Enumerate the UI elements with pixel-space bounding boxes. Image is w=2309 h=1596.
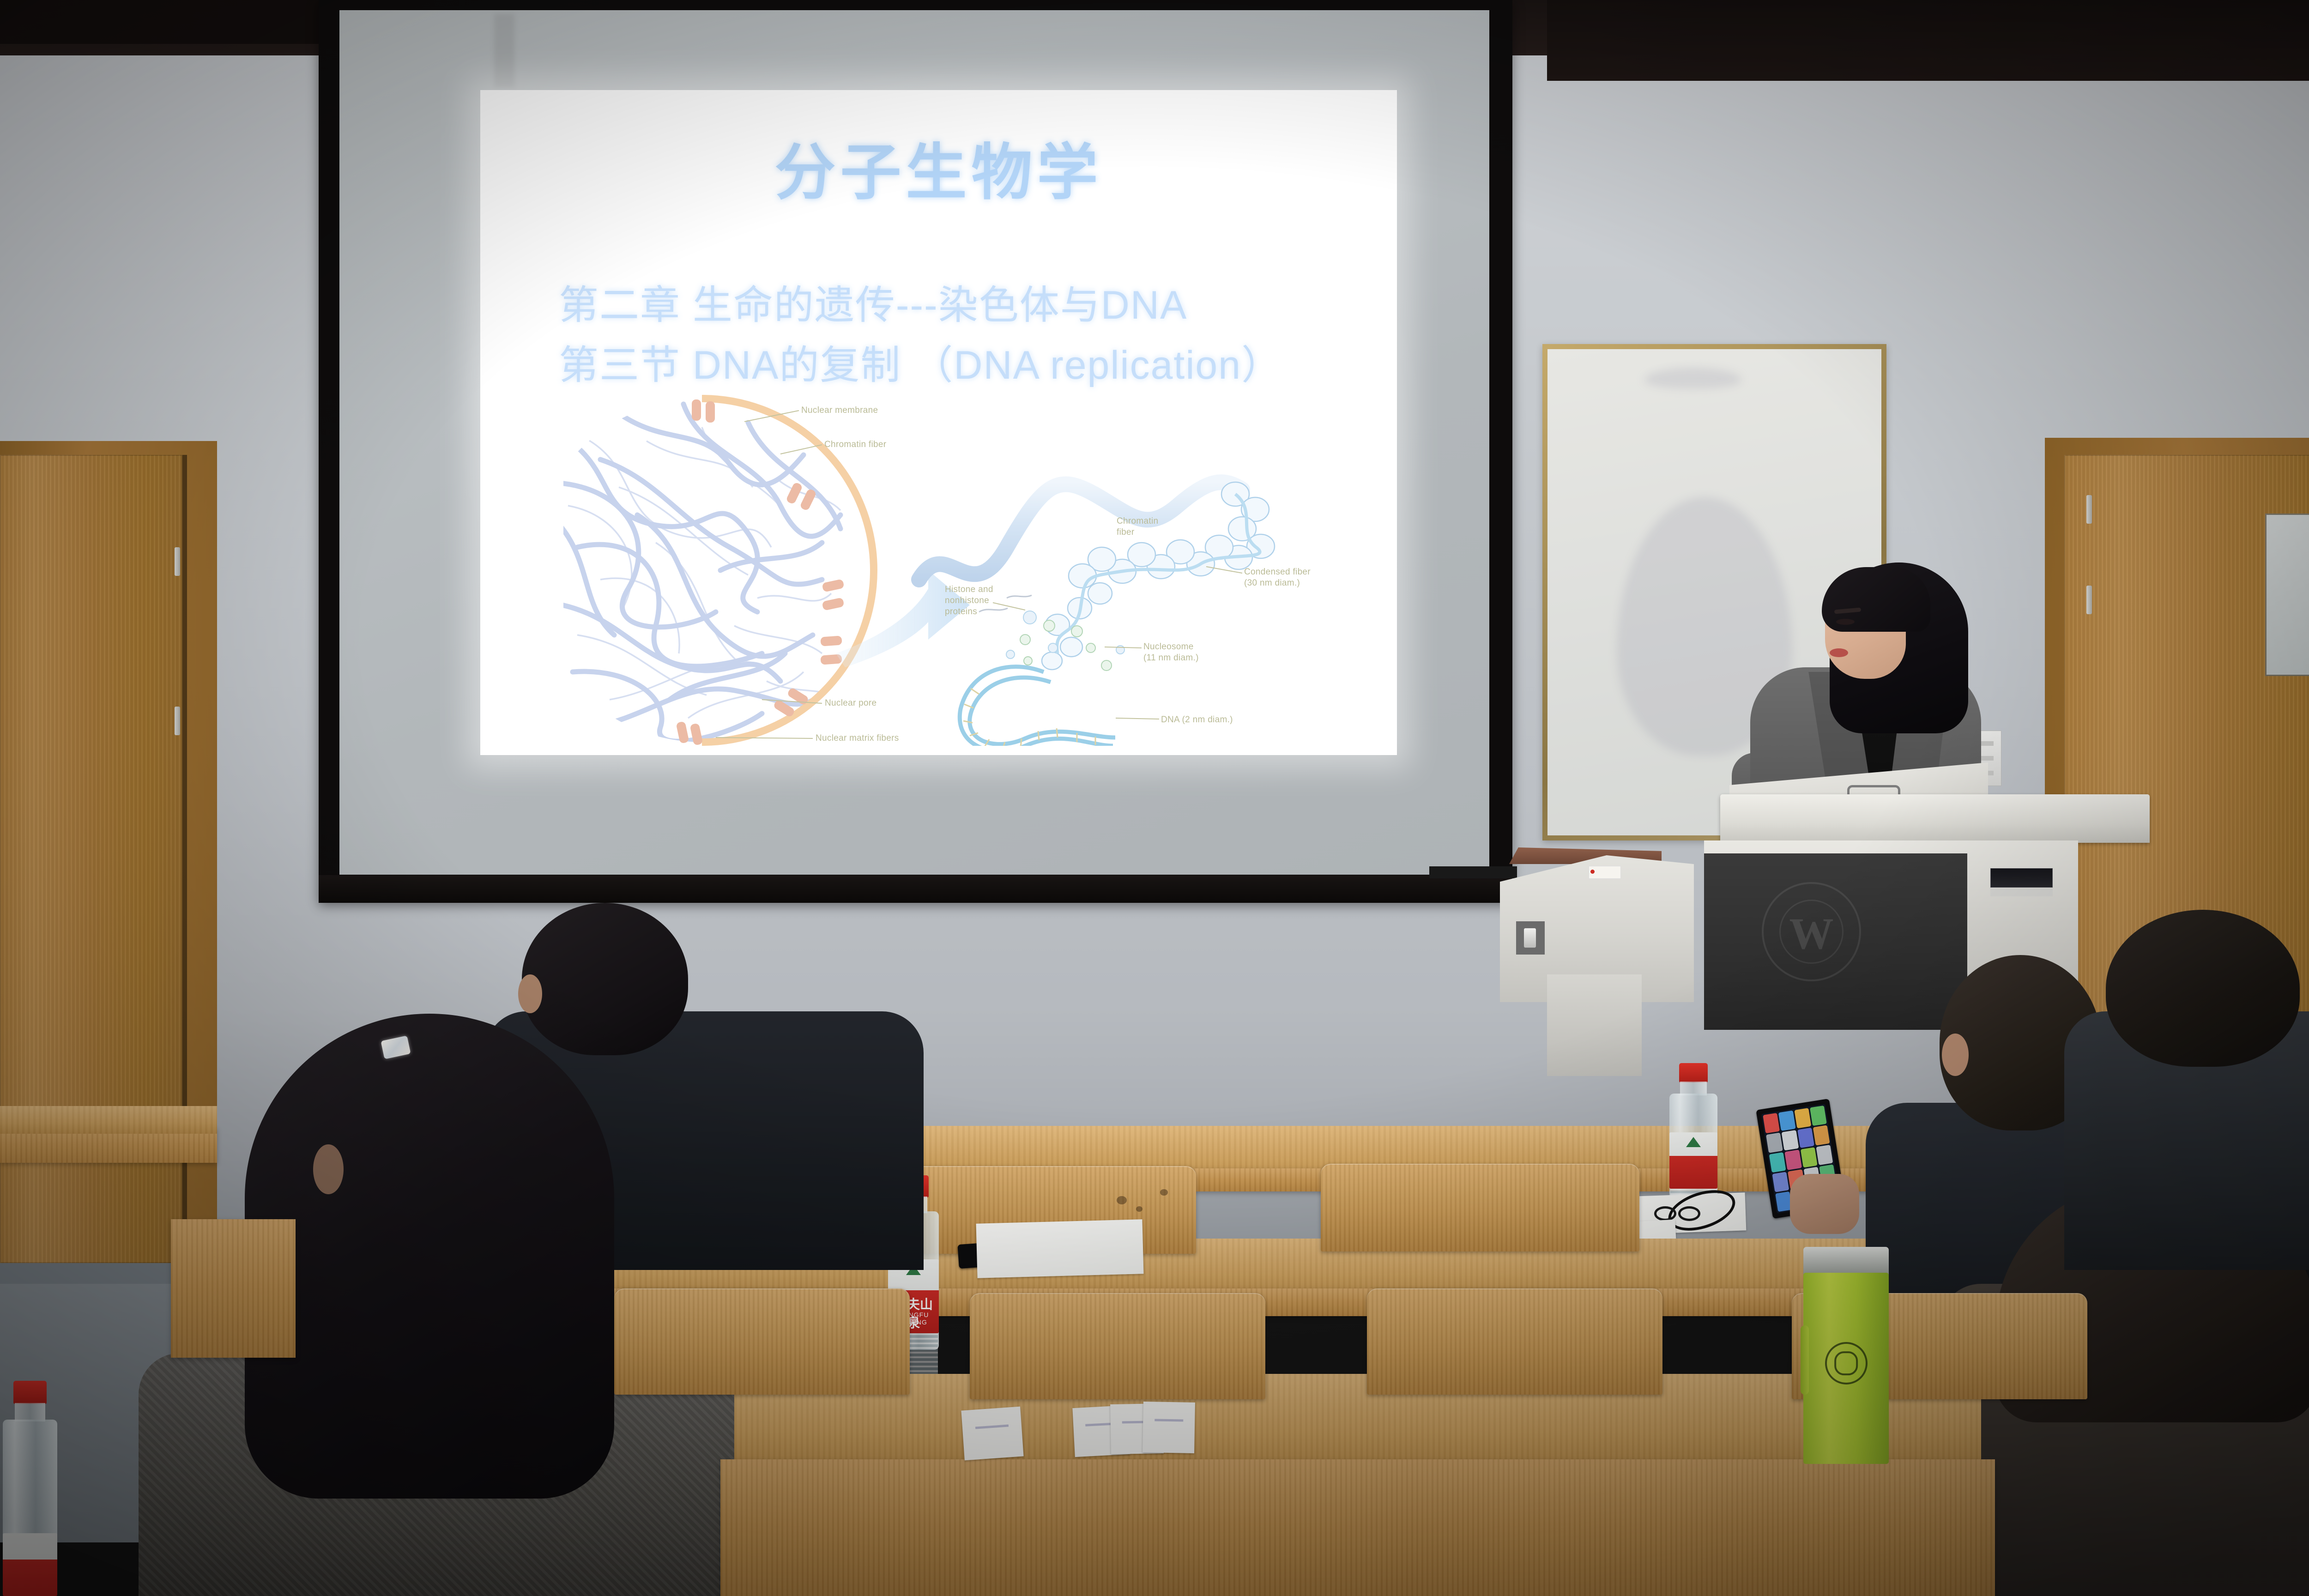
- lecturer-lips: [1830, 648, 1848, 657]
- attendee-far-right-head: [2106, 910, 2300, 1067]
- app-icon[interactable]: [1778, 1111, 1795, 1131]
- app-icon[interactable]: [1785, 1149, 1802, 1170]
- bottle-mountain-logo-right: [1686, 1137, 1701, 1147]
- app-icon[interactable]: [1782, 1130, 1799, 1150]
- desk-row-1-front: [720, 1459, 1995, 1596]
- bottle-label-left: [3, 1533, 57, 1596]
- app-icon[interactable]: [1769, 1152, 1786, 1173]
- app-icon[interactable]: [1772, 1172, 1789, 1192]
- seat-back-r1-a[interactable]: [614, 1288, 910, 1395]
- podium-nameplate-strip: [1990, 889, 2053, 896]
- paper-slip-4[interactable]: [1142, 1402, 1195, 1453]
- desk-stain-2: [1136, 1206, 1142, 1212]
- door-hinge-lower-left: [175, 707, 180, 735]
- seat-back-r1-c[interactable]: [1367, 1288, 1662, 1395]
- presentation-slide: 分子生物学 第二章 生命的遗传---染色体与DNA 第三节 DNA的复制 （DN…: [480, 90, 1397, 755]
- water-bottle-left[interactable]: [0, 1381, 60, 1596]
- app-icon[interactable]: [1816, 1145, 1833, 1165]
- av-cabinet-sticker: [1589, 866, 1621, 879]
- eyeglass-lens-right: [1678, 1206, 1700, 1221]
- diagram-label-histone-proteins: Histone and nonhistone proteins: [945, 584, 993, 617]
- eyeglass-lens-left: [1654, 1206, 1676, 1221]
- av-rail: [1429, 866, 1517, 878]
- ceiling-band-left: [0, 0, 323, 44]
- door-hinge-upper-left: [175, 547, 180, 576]
- app-icon[interactable]: [1794, 1108, 1811, 1128]
- podium-microphone-holder[interactable]: [1847, 785, 1900, 795]
- door-hinge-lower-right: [2086, 586, 2092, 614]
- slide-line-chapter: 第二章 生命的遗传---染色体与DNA: [559, 272, 1187, 330]
- diagram-label-chromatin-fiber-right: Chromatin fiber: [1117, 516, 1158, 538]
- podium-emblem: W: [1762, 882, 1861, 981]
- attendee-back-left-head: [522, 903, 688, 1055]
- attendee-back-left-ear: [518, 974, 542, 1013]
- diagram-label-nucleosome: Nucleosome (11 nm diam.): [1143, 641, 1199, 664]
- door-window-right: [2265, 514, 2309, 676]
- lecture-hall-photo: 分子生物学 第二章 生命的遗传---染色体与DNA 第三节 DNA的复制 （DN…: [0, 0, 2309, 1596]
- ceiling-band-right: [1547, 0, 2309, 81]
- green-thermos[interactable]: [1803, 1247, 1889, 1464]
- diagram-label-dna: DNA (2 nm diam.): [1161, 714, 1233, 725]
- slide-title: 分子生物学: [480, 123, 1397, 212]
- podium-top: [1720, 794, 2150, 843]
- podium-nameplate: [1990, 868, 2053, 888]
- attendee-right-phone-ear: [1942, 1034, 1969, 1076]
- diagram-label-nuclear-matrix-fibers: Nuclear matrix fibers: [816, 733, 899, 744]
- app-icon[interactable]: [1800, 1147, 1817, 1167]
- seat-back-r1-b[interactable]: [970, 1293, 1265, 1399]
- chromatin-diagram: Nuclear membrane Chromatin fiber Nuclear…: [563, 395, 1348, 746]
- screen-smudge: [494, 14, 514, 88]
- whiteboard-smudge-top: [1644, 368, 1741, 389]
- attendee-front-left-head: [245, 1014, 614, 1499]
- av-cabinet-pedestal: [1547, 974, 1642, 1076]
- desk-left-edge-top: [0, 1106, 217, 1134]
- desk-stain-3: [1160, 1189, 1168, 1196]
- thermos-grip: [1801, 1325, 1809, 1395]
- app-icon[interactable]: [1763, 1113, 1780, 1133]
- app-icon[interactable]: [1797, 1128, 1814, 1148]
- diagram-label-nuclear-pore: Nuclear pore: [825, 698, 876, 709]
- paper-slip-1[interactable]: [961, 1407, 1023, 1461]
- paper-sheet-row2[interactable]: [976, 1219, 1144, 1278]
- desk-left-edge-2: [171, 1219, 296, 1358]
- seat-back-r2-b[interactable]: [1321, 1164, 1639, 1251]
- bottle-label-right: [1669, 1132, 1717, 1189]
- chromatin-diagram-svg: [563, 395, 1348, 746]
- podium-emblem-letter: W: [1764, 908, 1859, 959]
- attendee-front-left-ear: [313, 1144, 344, 1194]
- diagram-label-nuclear-membrane: Nuclear membrane: [801, 405, 878, 416]
- slide-line-section: 第三节 DNA的复制 （DNA replication）: [559, 332, 1282, 390]
- bottle-neck-left: [15, 1403, 45, 1421]
- diagram-label-chromatin-fiber-left: Chromatin fiber: [824, 439, 886, 450]
- app-icon[interactable]: [1766, 1132, 1783, 1153]
- thermos-lid: [1803, 1247, 1889, 1276]
- app-icon[interactable]: [1810, 1106, 1827, 1126]
- bottle-cap-right: [1679, 1063, 1708, 1082]
- door-hinge-upper-right: [2086, 495, 2092, 524]
- bottle-cap-left: [13, 1381, 47, 1404]
- thermos-logo: [1825, 1342, 1868, 1384]
- app-icon[interactable]: [1813, 1125, 1830, 1145]
- av-cabinet-lock[interactable]: [1516, 921, 1545, 955]
- diagram-label-condensed-fiber: Condensed fiber (30 nm diam.): [1244, 567, 1311, 589]
- desk-stain-1: [1117, 1196, 1127, 1204]
- attendee-right-phone-hand: [1790, 1174, 1859, 1234]
- lecturer-eye: [1836, 619, 1855, 625]
